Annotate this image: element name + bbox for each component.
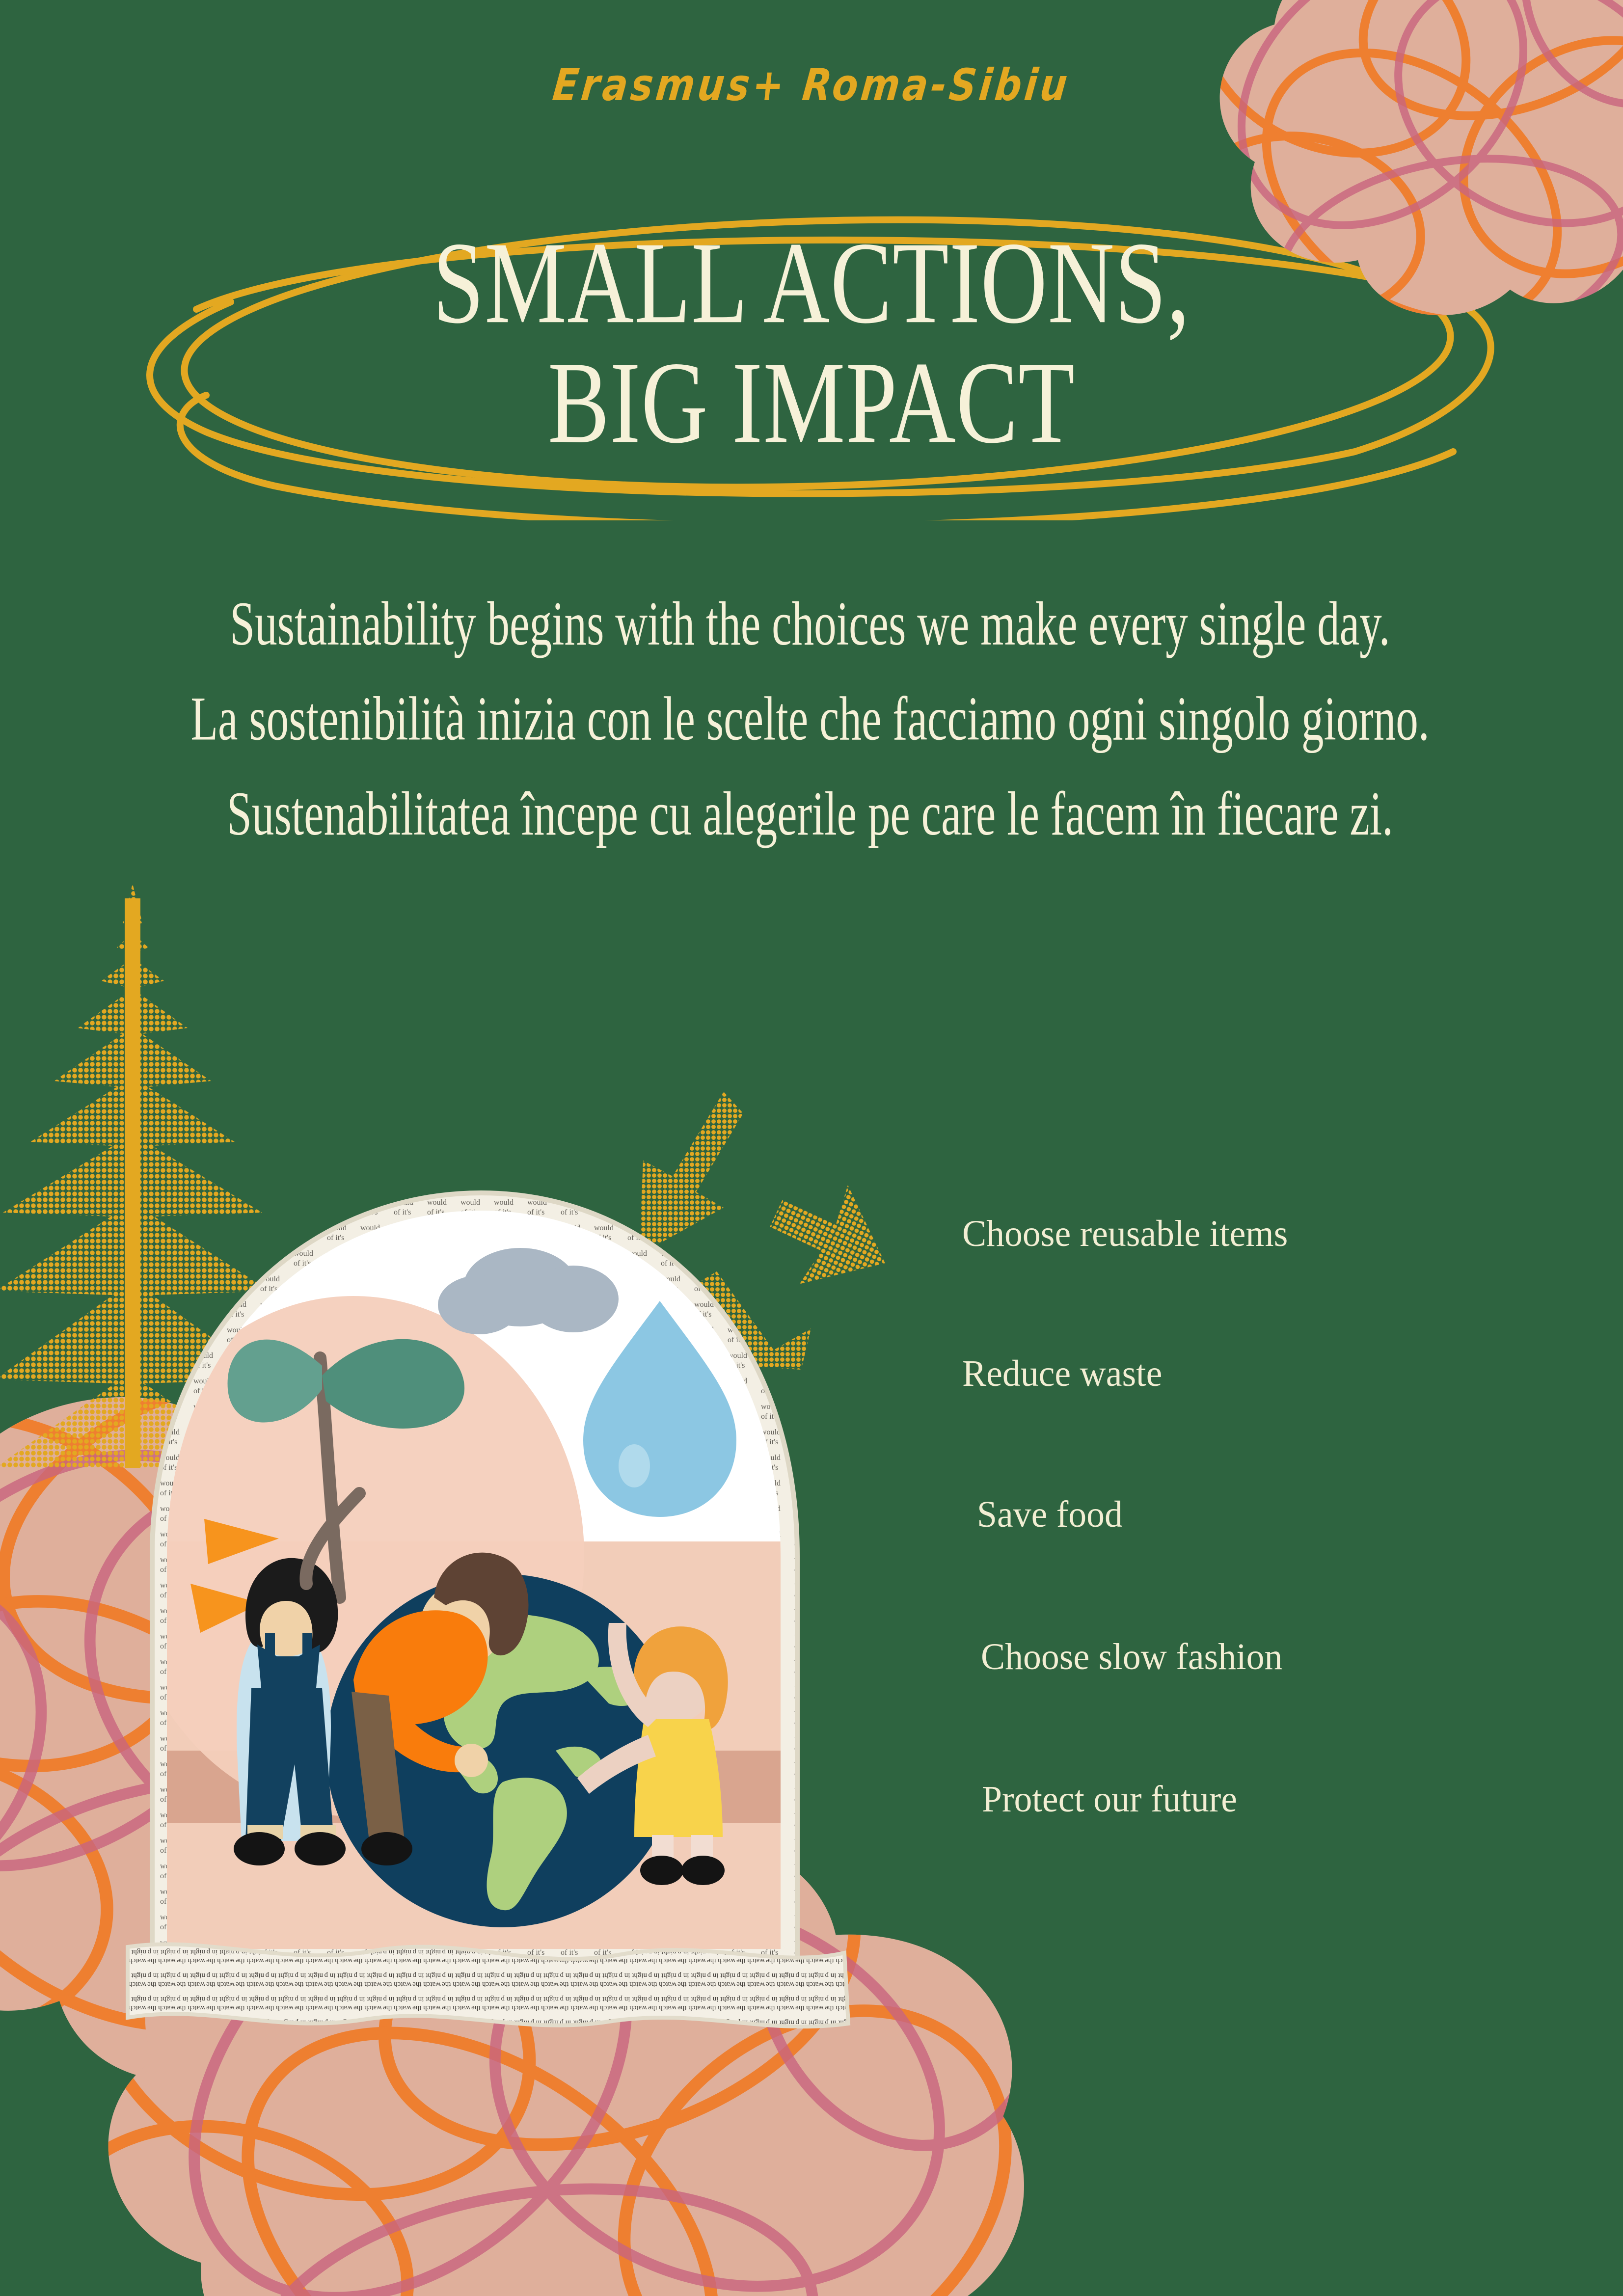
tip-item-4: Protect our future bbox=[982, 1778, 1237, 1821]
torn-newspaper-strip bbox=[128, 1944, 848, 2026]
body-line-romanian: Sustenabilitatea începe cu alegerile pe … bbox=[173, 767, 1447, 862]
title-block: SMALL ACTIONS, BIG IMPACT bbox=[0, 196, 1623, 520]
tip-item-0: Choose reusable items bbox=[962, 1213, 1288, 1255]
body-line-english: Sustainability begins with the choices w… bbox=[173, 577, 1447, 672]
body-line-italian: La sostenibilità inizia con le scelte ch… bbox=[173, 672, 1447, 767]
tip-item-2: Save food bbox=[977, 1493, 1123, 1536]
title-line-2: BIG IMPACT bbox=[32, 343, 1591, 463]
tip-item-1: Reduce waste bbox=[962, 1352, 1162, 1395]
tip-item-3: Choose slow fashion bbox=[981, 1636, 1282, 1678]
poster-canvas: Erasmus+ Roma-Sibiu SMALL ACTIONS, BIG I… bbox=[0, 0, 1623, 2296]
page-title: SMALL ACTIONS, BIG IMPACT bbox=[32, 223, 1591, 463]
body-copy: Sustainability begins with the choices w… bbox=[173, 577, 1447, 862]
program-label: Erasmus+ Roma-Sibiu bbox=[0, 59, 1623, 110]
title-line-1: SMALL ACTIONS, bbox=[433, 218, 1190, 348]
sustainability-collage-illustration: would of it's watch the night in par bbox=[59, 1095, 884, 2057]
